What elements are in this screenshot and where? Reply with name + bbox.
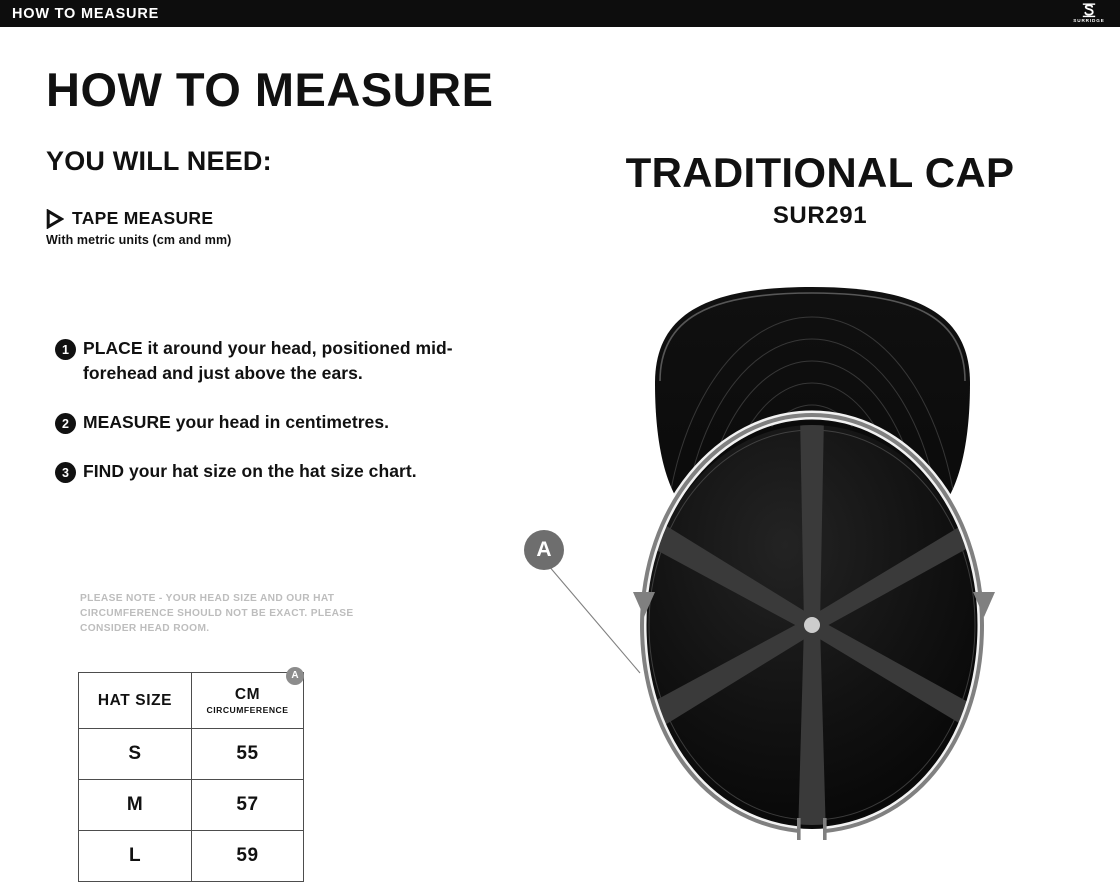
steps-list: 1 PLACE it around your head, positioned … <box>55 336 455 508</box>
hat-size-chart: HAT SIZE CM CIRCUMFERENCE A S 55 M 57 L … <box>78 672 304 882</box>
table-row: M 57 <box>79 780 304 831</box>
cell-hat-size: M <box>79 780 192 831</box>
callout-leader-line <box>548 565 640 673</box>
you-will-need-heading: YOU WILL NEED: <box>46 146 272 177</box>
disclaimer-note: PLEASE NOTE - YOUR HEAD SIZE AND OUR HAT… <box>80 592 410 636</box>
brand-logo: SURRIDGE <box>1066 1 1112 26</box>
cap-illustration-svg <box>500 265 1120 883</box>
cell-cm: 57 <box>192 780 304 831</box>
triangle-outline-icon <box>46 209 64 229</box>
step-number-badge: 3 <box>55 462 76 483</box>
column-header-hat-size: HAT SIZE <box>79 673 192 729</box>
crown-button-icon <box>804 617 820 633</box>
table-row: L 59 <box>79 831 304 882</box>
product-title: TRADITIONAL CAP <box>560 150 1080 196</box>
surridge-s-mark-icon <box>1080 3 1098 18</box>
tape-end-cap-right <box>823 818 827 840</box>
table-row: S 55 <box>79 729 304 780</box>
top-bar-title: HOW TO MEASURE <box>12 6 159 22</box>
step-item: 1 PLACE it around your head, positioned … <box>55 336 455 386</box>
tool-name: TAPE MEASURE <box>72 208 213 229</box>
page-title: HOW TO MEASURE <box>46 64 493 116</box>
cell-hat-size: L <box>79 831 192 882</box>
cap-illustration <box>500 265 1120 883</box>
brand-wordmark: SURRIDGE <box>1073 18 1104 24</box>
cell-cm: 55 <box>192 729 304 780</box>
tape-end-cap-left <box>797 818 801 840</box>
column-header-hat-size-label: HAT SIZE <box>79 692 191 710</box>
step-text: MEASURE your head in centimetres. <box>83 410 389 435</box>
product-code: SUR291 <box>560 202 1080 230</box>
step-text: PLACE it around your head, positioned mi… <box>83 336 455 386</box>
callout-badge-a-table: A <box>286 667 304 685</box>
column-header-cm: CM CIRCUMFERENCE A <box>192 673 304 729</box>
step-number-badge: 2 <box>55 413 76 434</box>
cell-cm: 59 <box>192 831 304 882</box>
table-header-row: HAT SIZE CM CIRCUMFERENCE A <box>79 673 304 729</box>
step-item: 3 FIND your hat size on the hat size cha… <box>55 459 455 484</box>
cell-hat-size: S <box>79 729 192 780</box>
step-number-badge: 1 <box>55 339 76 360</box>
tool-subtitle: With metric units (cm and mm) <box>46 233 466 247</box>
callout-badge-a: A <box>524 530 564 570</box>
column-header-cm-label: CM <box>192 686 303 704</box>
column-header-cm-sublabel: CIRCUMFERENCE <box>192 705 303 715</box>
step-text: FIND your hat size on the hat size chart… <box>83 459 417 484</box>
tool-requirement: TAPE MEASURE With metric units (cm and m… <box>46 208 466 247</box>
step-item: 2 MEASURE your head in centimetres. <box>55 410 455 435</box>
top-bar: HOW TO MEASURE SURRIDGE <box>0 0 1120 27</box>
